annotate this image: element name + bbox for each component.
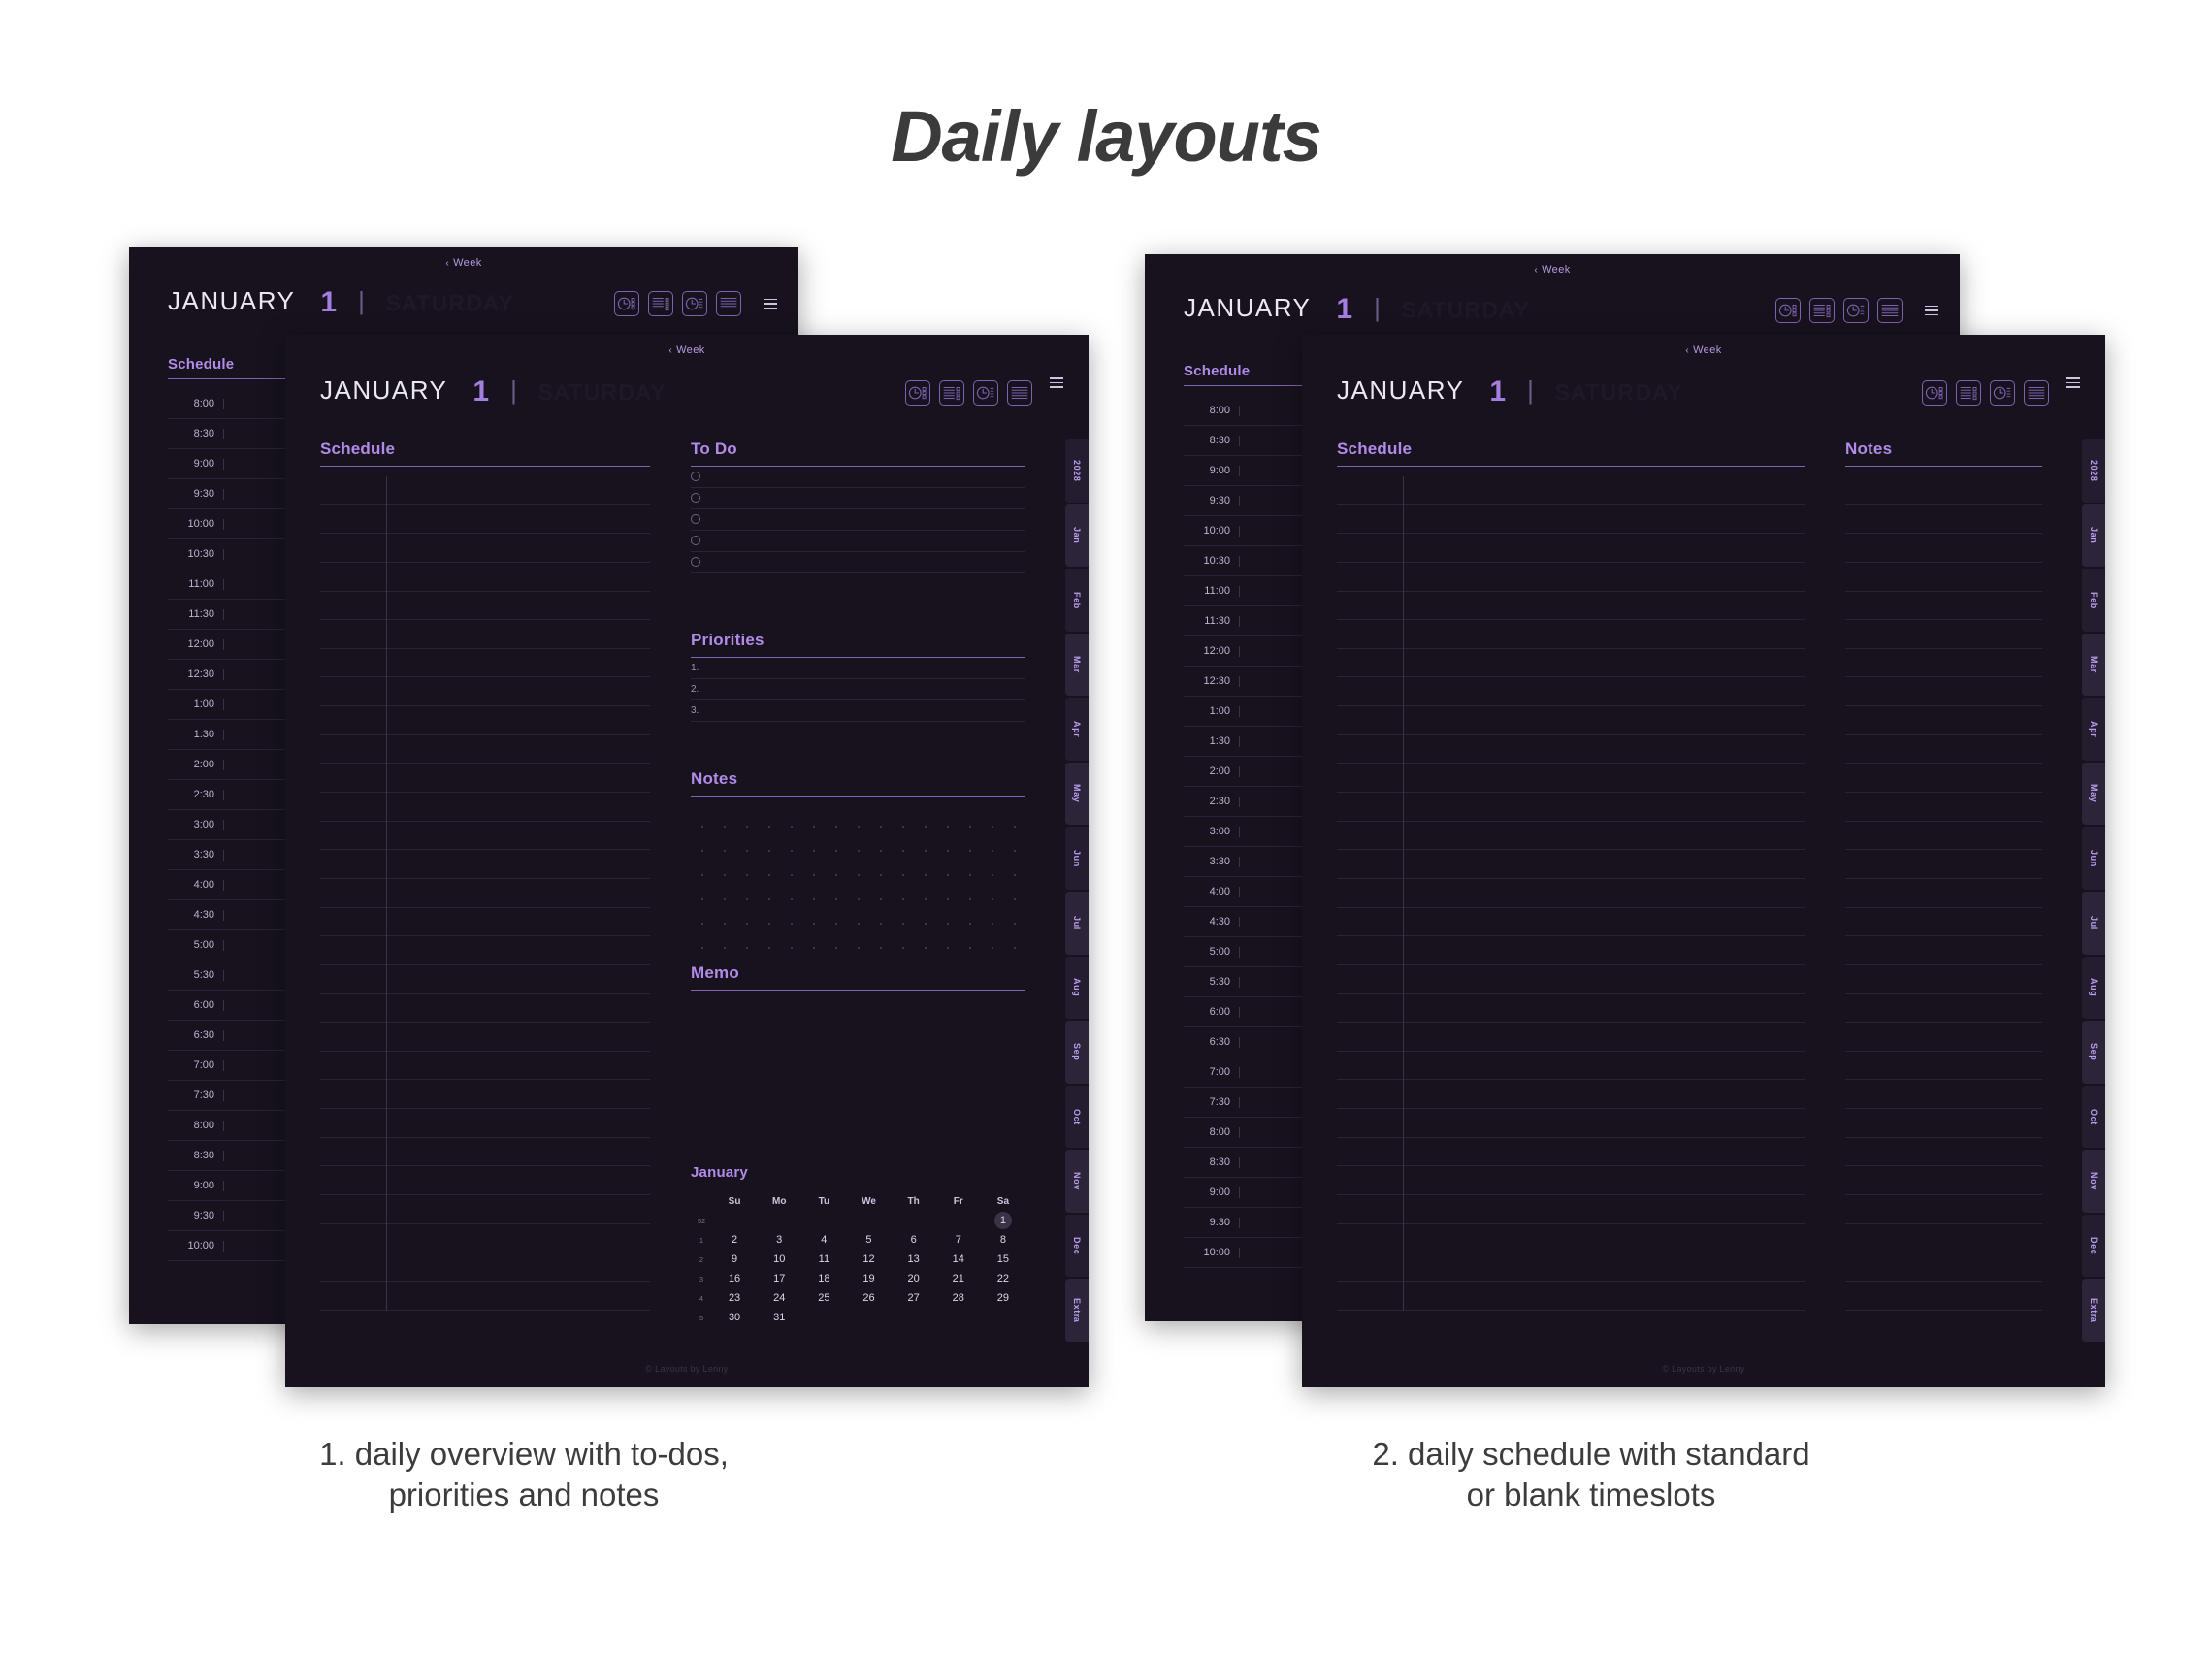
- grid-dot: [768, 826, 770, 828]
- blank-row[interactable]: [1845, 1080, 2042, 1109]
- clock-lines-icon[interactable]: [1843, 298, 1869, 323]
- blank-row[interactable]: [320, 563, 650, 592]
- calendar-day[interactable]: 20: [892, 1269, 936, 1288]
- timeslot-label: 5:30: [168, 970, 224, 981]
- month-tab-2028[interactable]: 2028: [1065, 439, 1089, 503]
- month-tab-aug[interactable]: Aug: [1065, 957, 1089, 1020]
- clock-grid-icon[interactable]: [614, 291, 639, 316]
- grid-dot: [813, 874, 815, 876]
- blank-row[interactable]: [320, 1138, 650, 1167]
- blank-row[interactable]: [320, 850, 650, 879]
- list-grid-icon[interactable]: [1956, 380, 1981, 406]
- grid-dot: [880, 874, 882, 876]
- calendar-day[interactable]: 3: [757, 1230, 801, 1250]
- blank-row[interactable]: [1337, 1282, 1805, 1311]
- month-tab-mar[interactable]: Mar: [1065, 634, 1089, 697]
- list-grid-icon[interactable]: [1809, 298, 1835, 323]
- header-day-number: 1: [1489, 378, 1506, 407]
- priority-item[interactable]: 3.: [691, 700, 1025, 722]
- calendar-empty-cell: [892, 1211, 936, 1230]
- calendar-day[interactable]: 1: [994, 1212, 1012, 1229]
- blank-row[interactable]: [320, 793, 650, 822]
- blank-row[interactable]: [1845, 706, 2042, 735]
- notes-lined-area[interactable]: [1845, 476, 2042, 1311]
- blank-row[interactable]: [1845, 1195, 2042, 1224]
- month-tab-mar[interactable]: Mar: [2082, 634, 2105, 697]
- month-tab-2028[interactable]: 2028: [2082, 439, 2105, 503]
- view-icon-group[interactable]: [1775, 298, 1938, 323]
- month-tab-dec[interactable]: Dec: [1065, 1215, 1089, 1278]
- blank-row[interactable]: [1337, 1166, 1805, 1195]
- blank-row[interactable]: [320, 936, 650, 965]
- blank-row[interactable]: [320, 706, 650, 735]
- calendar-day[interactable]: 23: [712, 1288, 757, 1308]
- grid-dot: [813, 826, 815, 828]
- view-icon-group[interactable]: [614, 291, 777, 316]
- blank-row[interactable]: [320, 1224, 650, 1253]
- calendar-day[interactable]: 21: [936, 1269, 981, 1288]
- blank-row[interactable]: [1845, 936, 2042, 965]
- memo-heading: Memo: [691, 963, 1025, 983]
- timeslot-label: 6:00: [168, 1000, 224, 1011]
- grid-dot: [746, 898, 748, 900]
- blank-row[interactable]: [1845, 1166, 2042, 1195]
- priorities-list[interactable]: 1.2.3.: [691, 658, 1025, 722]
- blank-row[interactable]: [320, 1195, 650, 1224]
- clock-grid-icon[interactable]: [1775, 298, 1801, 323]
- blank-row[interactable]: [1845, 879, 2042, 908]
- calendar-day[interactable]: 27: [892, 1288, 936, 1308]
- grid-dot: [902, 826, 904, 828]
- blank-row[interactable]: [320, 649, 650, 678]
- calendar-day[interactable]: 7: [936, 1230, 981, 1250]
- week-nav-back-left[interactable]: ‹Week: [129, 257, 798, 269]
- hamburger-menu-icon[interactable]: [2066, 377, 2080, 388]
- calendar-week-number: 1: [691, 1236, 712, 1245]
- blank-row[interactable]: [1337, 1052, 1805, 1081]
- blank-row[interactable]: [1337, 534, 1805, 563]
- priority-item[interactable]: 2.: [691, 679, 1025, 700]
- timeslot-label: 11:30: [168, 609, 224, 620]
- hamburger-menu-icon[interactable]: [1050, 377, 1063, 388]
- calendar-day[interactable]: 15: [981, 1250, 1025, 1269]
- notes-section: Notes: [1845, 439, 2042, 467]
- month-tab-apr[interactable]: Apr: [1065, 698, 1089, 761]
- blank-row[interactable]: [320, 620, 650, 649]
- blank-row[interactable]: [1337, 879, 1805, 908]
- blank-row[interactable]: [1845, 649, 2042, 678]
- lines-icon[interactable]: [1007, 380, 1032, 406]
- timeslot-label: 1:30: [168, 730, 224, 740]
- grid-dot: [925, 947, 927, 949]
- blank-row[interactable]: [320, 735, 650, 764]
- blank-row[interactable]: [1337, 1109, 1805, 1138]
- blank-row[interactable]: [1337, 592, 1805, 621]
- timeslot-label: 6:00: [1184, 1007, 1240, 1018]
- schedule-section-front-right: Schedule: [1337, 439, 1805, 467]
- month-tab-may[interactable]: May: [1065, 763, 1089, 826]
- blank-schedule-grid[interactable]: [1337, 476, 1805, 1311]
- blank-row[interactable]: [1845, 822, 2042, 851]
- month-tabs-front-left[interactable]: 2028JanFebMarAprMayJunJulAugSepOctNovDec…: [1065, 439, 1089, 1344]
- clock-lines-icon[interactable]: [973, 380, 998, 406]
- timeslot-label: 8:00: [168, 1121, 224, 1131]
- calendar-day[interactable]: 4: [801, 1230, 846, 1250]
- blank-row[interactable]: [1845, 965, 2042, 994]
- timeslot-label: 3:30: [1184, 857, 1240, 867]
- month-tab-jan[interactable]: Jan: [2082, 504, 2105, 568]
- notes-rule: [691, 796, 1025, 797]
- grid-dot: [925, 826, 927, 828]
- blank-row[interactable]: [320, 677, 650, 706]
- todo-checkbox[interactable]: [691, 514, 700, 524]
- todo-item[interactable]: [691, 467, 1025, 488]
- blank-row[interactable]: [320, 476, 650, 505]
- timeslot-label: 6:30: [1184, 1037, 1240, 1048]
- blank-row[interactable]: [1845, 563, 2042, 592]
- header-separator: |: [1374, 293, 1381, 323]
- grid-dot: [791, 826, 793, 828]
- grid-dot: [746, 874, 748, 876]
- month-tab-sep[interactable]: Sep: [1065, 1021, 1089, 1084]
- grid-dot: [992, 947, 993, 949]
- calendar-day[interactable]: 12: [846, 1250, 891, 1269]
- month-tab-jun[interactable]: Jun: [1065, 827, 1089, 890]
- header-month: JANUARY: [1337, 375, 1464, 406]
- calendar-day[interactable]: 9: [712, 1250, 757, 1269]
- todo-checkbox[interactable]: [691, 472, 700, 481]
- header-separator: |: [1527, 375, 1534, 406]
- calendar-day[interactable]: 26: [846, 1288, 891, 1308]
- timeslot-label: 7:00: [1184, 1067, 1240, 1078]
- header-day-number: 1: [320, 289, 337, 317]
- month-tab-apr[interactable]: Apr: [2082, 698, 2105, 761]
- mini-calendar[interactable]: January SuMoTuWeThFrSa521123456782910111…: [691, 1164, 1025, 1327]
- month-tab-nov[interactable]: Nov: [2082, 1150, 2105, 1213]
- calendar-day[interactable]: 24: [757, 1288, 801, 1308]
- blank-row[interactable]: [1845, 620, 2042, 649]
- grid-dot: [1014, 850, 1016, 852]
- blank-row[interactable]: [320, 1109, 650, 1138]
- timeslot-label: 9:00: [168, 1181, 224, 1191]
- calendar-day[interactable]: 19: [846, 1269, 891, 1288]
- clock-lines-icon[interactable]: [682, 291, 707, 316]
- blank-row[interactable]: [320, 1166, 650, 1195]
- calendar-empty-cell: [892, 1308, 936, 1327]
- priority-number: 2.: [691, 684, 699, 695]
- blank-row[interactable]: [1845, 505, 2042, 535]
- calendar-day[interactable]: 25: [801, 1288, 846, 1308]
- grid-dot: [925, 923, 927, 925]
- month-tab-extra[interactable]: Extra: [1065, 1279, 1089, 1342]
- blank-row[interactable]: [1337, 735, 1805, 764]
- grid-dot: [947, 923, 949, 925]
- blank-row[interactable]: [1845, 476, 2042, 505]
- grid-dot: [880, 898, 882, 900]
- hamburger-menu-icon[interactable]: [1925, 306, 1938, 316]
- clock-lines-icon[interactable]: [1990, 380, 2015, 406]
- timeslot-label: 8:00: [1184, 1127, 1240, 1138]
- month-tab-aug[interactable]: Aug: [2082, 957, 2105, 1020]
- blank-row[interactable]: [1845, 677, 2042, 706]
- month-tab-oct[interactable]: Oct: [1065, 1086, 1089, 1149]
- blank-row[interactable]: [1337, 649, 1805, 678]
- calendar-week-number: 2: [691, 1255, 712, 1264]
- blank-row[interactable]: [1845, 1109, 2042, 1138]
- todo-item[interactable]: [691, 531, 1025, 552]
- week-nav-front-left[interactable]: ‹Week: [285, 344, 1089, 356]
- blank-row[interactable]: [1337, 793, 1805, 822]
- footer-credit: © Layouts by Lenny: [285, 1364, 1089, 1374]
- todo-item[interactable]: [691, 552, 1025, 573]
- grid-dot: [880, 923, 882, 925]
- grid-dot: [880, 826, 882, 828]
- blank-row[interactable]: [1845, 1224, 2042, 1253]
- header-day-number: 1: [1336, 296, 1352, 324]
- timeslot-label: 11:00: [1184, 586, 1240, 597]
- blank-row[interactable]: [1337, 822, 1805, 851]
- grid-dot: [701, 850, 703, 852]
- blank-row[interactable]: [1845, 534, 2042, 563]
- month-tab-dec[interactable]: Dec: [2082, 1215, 2105, 1278]
- view-icon-group[interactable]: [1922, 380, 2049, 406]
- grid-dot: [969, 826, 971, 828]
- timeslot-label: 11:00: [168, 579, 224, 590]
- hamburger-menu-icon[interactable]: [764, 299, 777, 309]
- calendar-dow-header: Su: [712, 1192, 757, 1211]
- timeslot-label: 10:30: [1184, 556, 1240, 567]
- blank-row[interactable]: [1845, 793, 2042, 822]
- blank-row[interactable]: [1337, 1252, 1805, 1282]
- grid-dot: [880, 947, 882, 949]
- week-nav-back-right[interactable]: ‹Week: [1145, 264, 1960, 276]
- blank-row[interactable]: [1845, 735, 2042, 764]
- grid-dot: [880, 850, 882, 852]
- grid-dot: [969, 923, 971, 925]
- blank-row[interactable]: [320, 1252, 650, 1282]
- calendar-day[interactable]: 2: [712, 1230, 757, 1250]
- planner-header-front-right: JANUARY 1 | SATURDAY: [1337, 375, 2049, 406]
- blank-row[interactable]: [1845, 1282, 2042, 1311]
- priority-item[interactable]: 1.: [691, 658, 1025, 679]
- month-tab-extra[interactable]: Extra: [2082, 1279, 2105, 1342]
- calendar-day[interactable]: 10: [757, 1250, 801, 1269]
- blank-row[interactable]: [320, 822, 650, 851]
- timeslot-label: 6:30: [168, 1030, 224, 1041]
- header-day-of-week: SATURDAY: [386, 291, 515, 316]
- calendar-day[interactable]: 17: [757, 1269, 801, 1288]
- grid-dot: [813, 947, 815, 949]
- calendar-day[interactable]: 16: [712, 1269, 757, 1288]
- timeslot-label: 1:00: [1184, 706, 1240, 717]
- grid-dot: [969, 874, 971, 876]
- blank-row[interactable]: [320, 908, 650, 937]
- grid-dot: [858, 947, 860, 949]
- schedule-section-front-left: Schedule: [320, 439, 650, 467]
- calendar-day[interactable]: 14: [936, 1250, 981, 1269]
- timeslot-label: 9:30: [168, 489, 224, 500]
- grid-dot: [746, 826, 748, 828]
- blank-row[interactable]: [1337, 965, 1805, 994]
- blank-row[interactable]: [1337, 505, 1805, 535]
- grid-dot: [835, 947, 837, 949]
- blank-row[interactable]: [1845, 908, 2042, 937]
- blank-row[interactable]: [1337, 936, 1805, 965]
- header-separator: |: [358, 286, 365, 316]
- blank-row[interactable]: [320, 764, 650, 793]
- planner-card-front-left[interactable]: ‹Week JANUARY 1 | SATURDAY Schedule: [285, 335, 1089, 1387]
- month-tabs-front-right[interactable]: 2028JanFebMarAprMayJunJulAugSepOctNovDec…: [2082, 439, 2105, 1344]
- blank-row[interactable]: [1337, 620, 1805, 649]
- blank-row[interactable]: [320, 1052, 650, 1081]
- blank-row[interactable]: [320, 879, 650, 908]
- grid-dot: [724, 947, 726, 949]
- grid-dot: [947, 947, 949, 949]
- blank-row[interactable]: [1845, 764, 2042, 793]
- grid-dot: [813, 850, 815, 852]
- blank-row[interactable]: [320, 1023, 650, 1052]
- memo-writing-area[interactable]: [691, 991, 1025, 1117]
- calendar-day[interactable]: 29: [981, 1288, 1025, 1308]
- blank-row[interactable]: [1845, 592, 2042, 621]
- planner-card-front-right[interactable]: ‹Week JANUARY 1 | SATURDAY Schedule: [1302, 335, 2105, 1387]
- month-tab-jul[interactable]: Jul: [2082, 892, 2105, 955]
- blank-row[interactable]: [1337, 563, 1805, 592]
- blank-row[interactable]: [1845, 1023, 2042, 1052]
- blank-row[interactable]: [1337, 1224, 1805, 1253]
- todo-list[interactable]: [691, 467, 1025, 573]
- calendar-week-number: 3: [691, 1275, 712, 1284]
- priority-number: 3.: [691, 705, 699, 716]
- month-tab-nov[interactable]: Nov: [1065, 1150, 1089, 1213]
- calendar-day[interactable]: 8: [981, 1230, 1025, 1250]
- blank-row[interactable]: [320, 534, 650, 563]
- blank-row[interactable]: [320, 505, 650, 535]
- grid-dot: [813, 923, 815, 925]
- blank-schedule-grid[interactable]: [320, 476, 650, 1311]
- week-nav-label: Week: [1693, 344, 1722, 356]
- grid-dot: [746, 923, 748, 925]
- header-month: JANUARY: [168, 286, 295, 316]
- blank-row[interactable]: [1337, 677, 1805, 706]
- grid-dot: [925, 898, 927, 900]
- blank-row[interactable]: [1337, 1138, 1805, 1167]
- calendar-day[interactable]: 18: [801, 1269, 846, 1288]
- chevron-left-icon: ‹: [668, 345, 672, 356]
- calendar-week-number: 52: [691, 1217, 712, 1225]
- blank-row[interactable]: [320, 994, 650, 1024]
- calendar-day[interactable]: 6: [892, 1230, 936, 1250]
- list-grid-icon[interactable]: [939, 380, 964, 406]
- view-icon-group[interactable]: [905, 380, 1032, 406]
- blank-row[interactable]: [1337, 706, 1805, 735]
- month-tab-may[interactable]: May: [2082, 763, 2105, 826]
- clock-grid-icon[interactable]: [905, 380, 930, 406]
- grid-dot: [992, 874, 993, 876]
- timeslot-label: 10:00: [1184, 526, 1240, 537]
- month-tab-jan[interactable]: Jan: [1065, 504, 1089, 568]
- calendar-day[interactable]: 22: [981, 1269, 1025, 1288]
- blank-row[interactable]: [1337, 908, 1805, 937]
- timeslot-label: 8:00: [168, 399, 224, 409]
- timeslot-label: 1:30: [1184, 736, 1240, 747]
- blank-row[interactable]: [1337, 764, 1805, 793]
- grid-dot: [791, 947, 793, 949]
- week-nav-front-right[interactable]: ‹Week: [1302, 344, 2105, 356]
- todo-checkbox[interactable]: [691, 493, 700, 503]
- grid-dot: [902, 874, 904, 876]
- calendar-empty-cell: [846, 1211, 891, 1230]
- calendar-day[interactable]: 28: [936, 1288, 981, 1308]
- grid-dot: [746, 947, 748, 949]
- calendar-day[interactable]: 11: [801, 1250, 846, 1269]
- grid-dot: [969, 898, 971, 900]
- timeslot-label: 8:30: [1184, 436, 1240, 446]
- planner-header-front-left: JANUARY 1 | SATURDAY: [320, 375, 1032, 406]
- blank-row[interactable]: [1845, 1252, 2042, 1282]
- clock-grid-icon[interactable]: [1922, 380, 1947, 406]
- lines-icon[interactable]: [1877, 298, 1903, 323]
- grid-dot: [992, 898, 993, 900]
- blank-row[interactable]: [320, 592, 650, 621]
- planner-header-back-left: JANUARY 1 | SATURDAY: [168, 286, 777, 316]
- grid-dot: [835, 923, 837, 925]
- blank-row[interactable]: [1845, 850, 2042, 879]
- month-tab-oct[interactable]: Oct: [2082, 1086, 2105, 1149]
- blank-row[interactable]: [1337, 1195, 1805, 1224]
- blank-row[interactable]: [320, 1282, 650, 1311]
- notes-dot-grid[interactable]: [691, 814, 1025, 960]
- blank-row[interactable]: [1845, 1052, 2042, 1081]
- blank-row[interactable]: [1845, 994, 2042, 1024]
- blank-row[interactable]: [1337, 994, 1805, 1024]
- grid-dot: [835, 826, 837, 828]
- list-grid-icon[interactable]: [648, 291, 673, 316]
- blank-row[interactable]: [1337, 1023, 1805, 1052]
- grid-dot: [791, 874, 793, 876]
- timeslot-label: 9:00: [1184, 1187, 1240, 1198]
- calendar-week-number: 5: [691, 1314, 712, 1322]
- blank-row[interactable]: [1337, 850, 1805, 879]
- schedule-rule: [320, 466, 650, 467]
- calendar-day[interactable]: 31: [757, 1308, 801, 1327]
- mini-calendar-grid[interactable]: SuMoTuWeThFrSa52112345678291011121314153…: [691, 1192, 1025, 1327]
- blank-row[interactable]: [1337, 476, 1805, 505]
- calendar-day[interactable]: 5: [846, 1230, 891, 1250]
- month-tab-jul[interactable]: Jul: [1065, 892, 1089, 955]
- calendar-empty-cell: [712, 1211, 757, 1230]
- footer-credit: © Layouts by Lenny: [1302, 1364, 2105, 1374]
- lines-icon[interactable]: [2024, 380, 2049, 406]
- todo-item[interactable]: [691, 509, 1025, 531]
- todo-item[interactable]: [691, 488, 1025, 509]
- blank-row[interactable]: [320, 965, 650, 994]
- lines-icon[interactable]: [716, 291, 741, 316]
- calendar-day[interactable]: 30: [712, 1308, 757, 1327]
- month-tab-feb[interactable]: Feb: [2082, 569, 2105, 632]
- blank-row[interactable]: [1337, 1080, 1805, 1109]
- blank-row[interactable]: [320, 1080, 650, 1109]
- todo-checkbox[interactable]: [691, 557, 700, 567]
- month-tab-sep[interactable]: Sep: [2082, 1021, 2105, 1084]
- month-tab-jun[interactable]: Jun: [2082, 827, 2105, 890]
- calendar-day[interactable]: 13: [892, 1250, 936, 1269]
- timeslot-label: 5:00: [1184, 947, 1240, 958]
- todo-checkbox[interactable]: [691, 536, 700, 545]
- month-tab-feb[interactable]: Feb: [1065, 569, 1089, 632]
- timeslot-label: 3:30: [168, 850, 224, 861]
- blank-row[interactable]: [1845, 1138, 2042, 1167]
